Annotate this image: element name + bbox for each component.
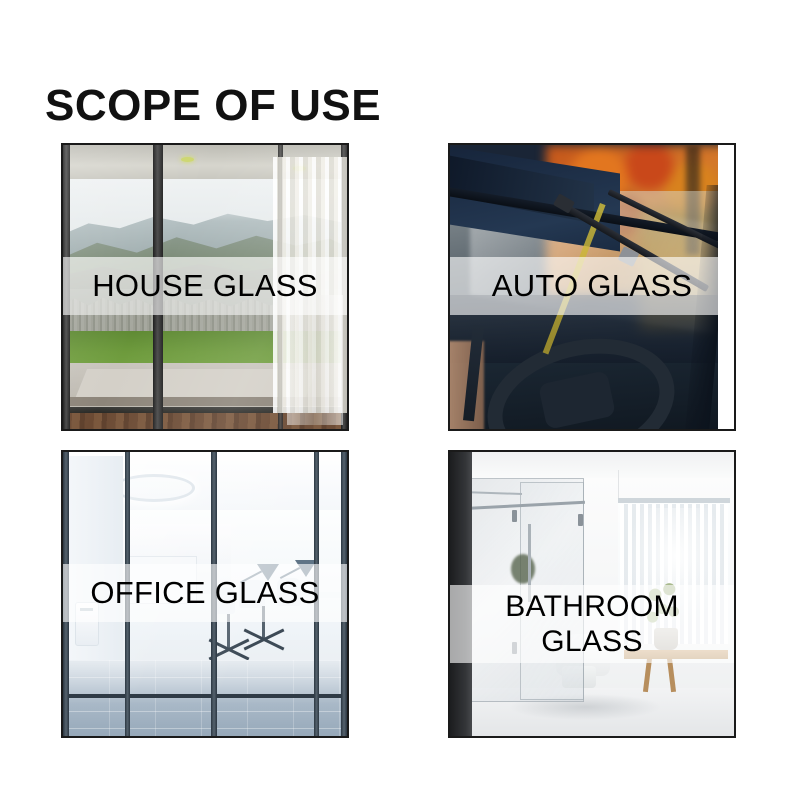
bathroom-ceiling (472, 452, 734, 478)
tile-house-glass[interactable]: HOUSE GLASS (61, 143, 349, 431)
caption-band: HOUSE GLASS (63, 257, 347, 315)
shower-hinge (578, 514, 583, 526)
partition-sill (63, 694, 347, 698)
tile-office-glass[interactable]: OFFICE GLASS (61, 450, 349, 738)
caption-band: BATHROOM GLASS (450, 585, 734, 663)
tile-auto-glass[interactable]: AUTO GLASS (448, 143, 736, 431)
tile-caption: OFFICE GLASS (90, 577, 319, 609)
tile-caption: BATHROOM GLASS (505, 589, 679, 660)
hanging-plant (506, 548, 540, 586)
window-frame (618, 498, 730, 503)
shower-hinge (512, 510, 517, 522)
scope-of-use-grid: HOUSE GLASS AUTO (61, 143, 738, 738)
caption-band: OFFICE GLASS (63, 564, 347, 622)
page-title: SCOPE OF USE (45, 84, 381, 128)
caption-band: AUTO GLASS (450, 257, 734, 315)
tile-caption: AUTO GLASS (492, 270, 693, 302)
tile-caption: HOUSE GLASS (92, 270, 318, 302)
tile-bathroom-glass[interactable]: BATHROOM GLASS (448, 450, 736, 738)
